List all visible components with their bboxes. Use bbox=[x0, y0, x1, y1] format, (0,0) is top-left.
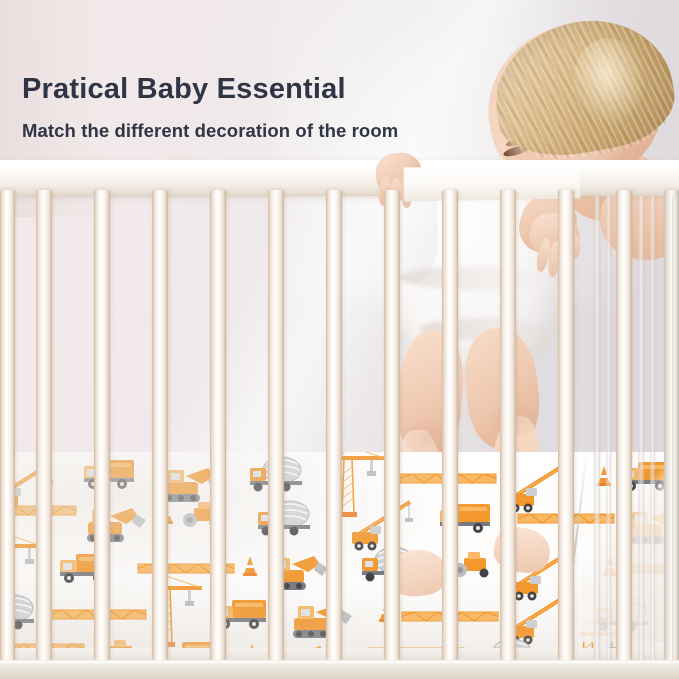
crib-slat bbox=[36, 190, 52, 666]
crib-slat-far bbox=[672, 196, 678, 662]
crib-slat-far bbox=[638, 196, 644, 662]
crib-slat-far bbox=[594, 196, 600, 662]
product-lifestyle-image: Pratical Baby Essential Match the differ… bbox=[0, 0, 679, 679]
crib-slat bbox=[152, 190, 168, 666]
marketing-text-block: Pratical Baby Essential Match the differ… bbox=[22, 74, 582, 141]
crib-slat bbox=[0, 190, 15, 666]
headline: Pratical Baby Essential bbox=[22, 74, 582, 106]
crib-slat bbox=[384, 190, 400, 666]
crib-slat bbox=[500, 190, 516, 666]
crib-slat bbox=[210, 190, 226, 666]
subheadline: Match the different decoration of the ro… bbox=[22, 120, 582, 141]
crib-slat bbox=[616, 190, 632, 666]
crib-slat bbox=[268, 190, 284, 666]
crib-slat bbox=[558, 190, 574, 666]
crib-rail-front-segment bbox=[404, 164, 581, 201]
crib-slat-far bbox=[650, 196, 655, 662]
crib-slat bbox=[326, 190, 342, 666]
crib-slat-far bbox=[606, 196, 611, 662]
crib-slat bbox=[94, 190, 110, 666]
crib-slat bbox=[442, 190, 458, 666]
crib-bottom-rail-highlight bbox=[0, 661, 679, 666]
